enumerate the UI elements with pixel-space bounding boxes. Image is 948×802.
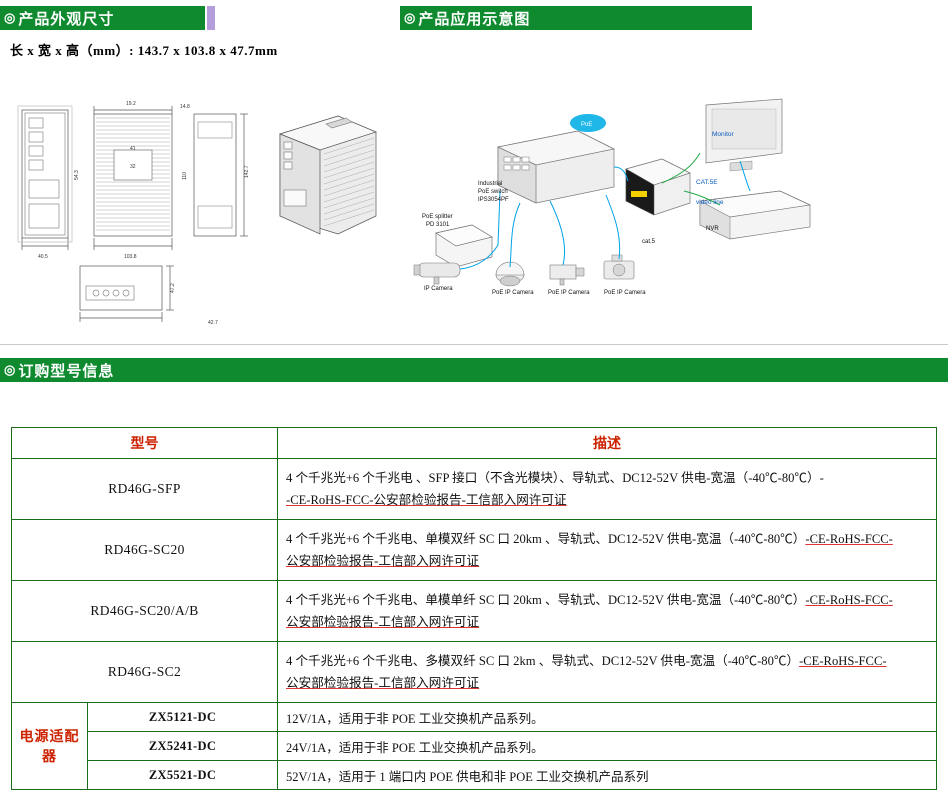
app-label-nvr: NVR bbox=[706, 226, 719, 232]
table-row: RD46G-SC20/A/B 4 个千兆光+6 个千兆电、单模单纤 SC 口 2… bbox=[12, 581, 937, 642]
svg-text:32: 32 bbox=[130, 164, 136, 170]
app-label-poe-splitter: PoE splitter bbox=[422, 214, 453, 220]
table-header-desc: 描述 bbox=[278, 428, 937, 459]
bullet-icon: ◎ bbox=[4, 10, 16, 26]
order-info-table: 型号 描述 RD46G-SFP 4 个千兆光+6 个千兆电 、SFP 接口（不含… bbox=[11, 427, 937, 790]
app-label-poe-ip-camera-1: PoE IP Camera bbox=[492, 290, 534, 296]
header-divider bbox=[207, 6, 215, 30]
adapter-model: ZX5521-DC bbox=[88, 761, 278, 790]
bullet-icon: ◎ bbox=[404, 10, 416, 26]
divider-line bbox=[0, 344, 948, 345]
table-row-adapter: 电源适配器 ZX5121-DC 12V/1A，适用于非 POE 工业交换机产品系… bbox=[12, 703, 937, 732]
desc-cell: 4 个千兆光+6 个千兆电、单模单纤 SC 口 20km 、导轨式、DC12-5… bbox=[278, 581, 937, 642]
app-label-industrial: Industrial bbox=[478, 181, 502, 187]
mechanical-drawings: 19.2 40.5 103.8 14.8 41 32 142.7 110 54.… bbox=[8, 88, 388, 328]
desc-cell: 4 个千兆光+6 个千兆电、多模双纤 SC 口 2km 、导轨式、DC12-52… bbox=[278, 642, 937, 703]
desc-line: 4 个千兆光+6 个千兆电、单模双纤 SC 口 20km 、导轨式、DC12-5… bbox=[286, 528, 930, 550]
app-label-cat5: cat.5 bbox=[642, 239, 655, 245]
application-diagram: PoE bbox=[400, 95, 840, 325]
dim-label: 19.2 bbox=[126, 101, 136, 107]
table-row: RD46G-SC2 4 个千兆光+6 个千兆电、多模双纤 SC 口 2km 、导… bbox=[12, 642, 937, 703]
mechanical-drawings-svg: 19.2 40.5 103.8 14.8 41 32 142.7 110 54.… bbox=[8, 88, 388, 328]
svg-text:142.7: 142.7 bbox=[244, 165, 250, 178]
desc-cell: 4 个千兆光+6 个千兆电、单模双纤 SC 口 20km 、导轨式、DC12-5… bbox=[278, 520, 937, 581]
desc-line-underlined: 公安部检验报告-工信部入网许可证 bbox=[286, 550, 930, 572]
app-label-poe-switch: PoE switch bbox=[478, 189, 508, 195]
adapter-model: ZX5121-DC bbox=[88, 703, 278, 732]
bullet-icon: ◎ bbox=[4, 362, 16, 378]
desc-line-underlined: 公安部检验报告-工信部入网许可证 bbox=[286, 611, 930, 633]
app-label-pd3101: PD 3101 bbox=[426, 222, 449, 228]
dimensions-text: 长 x 宽 x 高（mm）: 143.7 x 103.8 x 47.7mm bbox=[10, 40, 278, 59]
table-header-model: 型号 bbox=[12, 428, 278, 459]
desc-line: 4 个千兆光+6 个千兆电 、SFP 接口（不含光模块）、导轨式、DC12-52… bbox=[286, 467, 930, 489]
desc-line: 4 个千兆光+6 个千兆电、多模双纤 SC 口 2km 、导轨式、DC12-52… bbox=[286, 650, 930, 672]
svg-text:110: 110 bbox=[182, 172, 188, 180]
table-row: RD46G-SC20 4 个千兆光+6 个千兆电、单模双纤 SC 口 20km … bbox=[12, 520, 937, 581]
app-label-model: IPS3054PF bbox=[478, 197, 509, 203]
model-cell: RD46G-SC20/A/B bbox=[12, 581, 278, 642]
table-row: RD46G-SFP 4 个千兆光+6 个千兆电 、SFP 接口（不含光模块）、导… bbox=[12, 459, 937, 520]
table-row-adapter: ZX5241-DC 24V/1A，适用于非 POE 工业交换机产品系列。 bbox=[12, 732, 937, 761]
app-label-cat5e: CAT.5E bbox=[696, 179, 718, 186]
svg-text:40.5: 40.5 bbox=[38, 254, 48, 260]
app-label-monitor: Monitor bbox=[712, 131, 734, 138]
app-label-ip-camera: IP Camera bbox=[424, 286, 453, 292]
desc-text: 4 个千兆光+6 个千兆电、多模双纤 SC 口 2km 、导轨式、DC12-52… bbox=[286, 654, 799, 668]
desc-line-underlined: -CE-RoHS-FCC-公安部检验报告-工信部入网许可证 bbox=[286, 489, 930, 511]
svg-text:47.2: 47.2 bbox=[170, 283, 176, 293]
svg-text:PoE: PoE bbox=[581, 122, 592, 128]
model-cell: RD46G-SFP bbox=[12, 459, 278, 520]
adapter-desc: 52V/1A，适用于 1 端口内 POE 供电和非 POE 工业交换机产品系列 bbox=[278, 761, 937, 790]
adapter-label: 电源适配器 bbox=[12, 703, 88, 790]
svg-text:54.3: 54.3 bbox=[74, 170, 80, 180]
desc-text: 4 个千兆光+6 个千兆电、单模双纤 SC 口 20km 、导轨式、DC12-5… bbox=[286, 532, 805, 546]
app-label-video-line: video line bbox=[696, 199, 723, 206]
desc-line: 4 个千兆光+6 个千兆电、单模单纤 SC 口 20km 、导轨式、DC12-5… bbox=[286, 589, 930, 611]
desc-line-underlined: 公安部检验报告-工信部入网许可证 bbox=[286, 672, 930, 694]
svg-text:14.8: 14.8 bbox=[180, 104, 190, 110]
section-header-dimensions: ◎ 产品外观尺寸 bbox=[0, 6, 205, 30]
section-header-application: ◎ 产品应用示意图 bbox=[400, 6, 752, 30]
svg-text:103.8: 103.8 bbox=[124, 254, 137, 260]
desc-text-underlined: -CE-RoHS-FCC- bbox=[799, 654, 886, 668]
section-header-dimensions-label: 产品外观尺寸 bbox=[18, 8, 114, 29]
model-cell: RD46G-SC2 bbox=[12, 642, 278, 703]
desc-text: 4 个千兆光+6 个千兆电、单模单纤 SC 口 20km 、导轨式、DC12-5… bbox=[286, 593, 805, 607]
svg-text:41: 41 bbox=[130, 146, 136, 152]
adapter-desc: 24V/1A，适用于非 POE 工业交换机产品系列。 bbox=[278, 732, 937, 761]
table-row-adapter: ZX5521-DC 52V/1A，适用于 1 端口内 POE 供电和非 POE … bbox=[12, 761, 937, 790]
desc-text-underlined: -CE-RoHS-FCC- bbox=[805, 593, 892, 607]
desc-text-underlined: -CE-RoHS-FCC- bbox=[805, 532, 892, 546]
adapter-desc: 12V/1A，适用于非 POE 工业交换机产品系列。 bbox=[278, 703, 937, 732]
model-cell: RD46G-SC20 bbox=[12, 520, 278, 581]
section-header-order-label: 订购型号信息 bbox=[18, 360, 114, 381]
app-label-poe-ip-camera-3: PoE IP Camera bbox=[604, 290, 646, 296]
section-header-application-label: 产品应用示意图 bbox=[418, 8, 530, 29]
table-header-row: 型号 描述 bbox=[12, 428, 937, 459]
app-label-poe-ip-camera-2: PoE IP Camera bbox=[548, 290, 590, 296]
adapter-model: ZX5241-DC bbox=[88, 732, 278, 761]
section-header-order: ◎ 订购型号信息 bbox=[0, 358, 948, 382]
svg-text:42.7: 42.7 bbox=[208, 320, 218, 326]
desc-cell: 4 个千兆光+6 个千兆电 、SFP 接口（不含光模块）、导轨式、DC12-52… bbox=[278, 459, 937, 520]
